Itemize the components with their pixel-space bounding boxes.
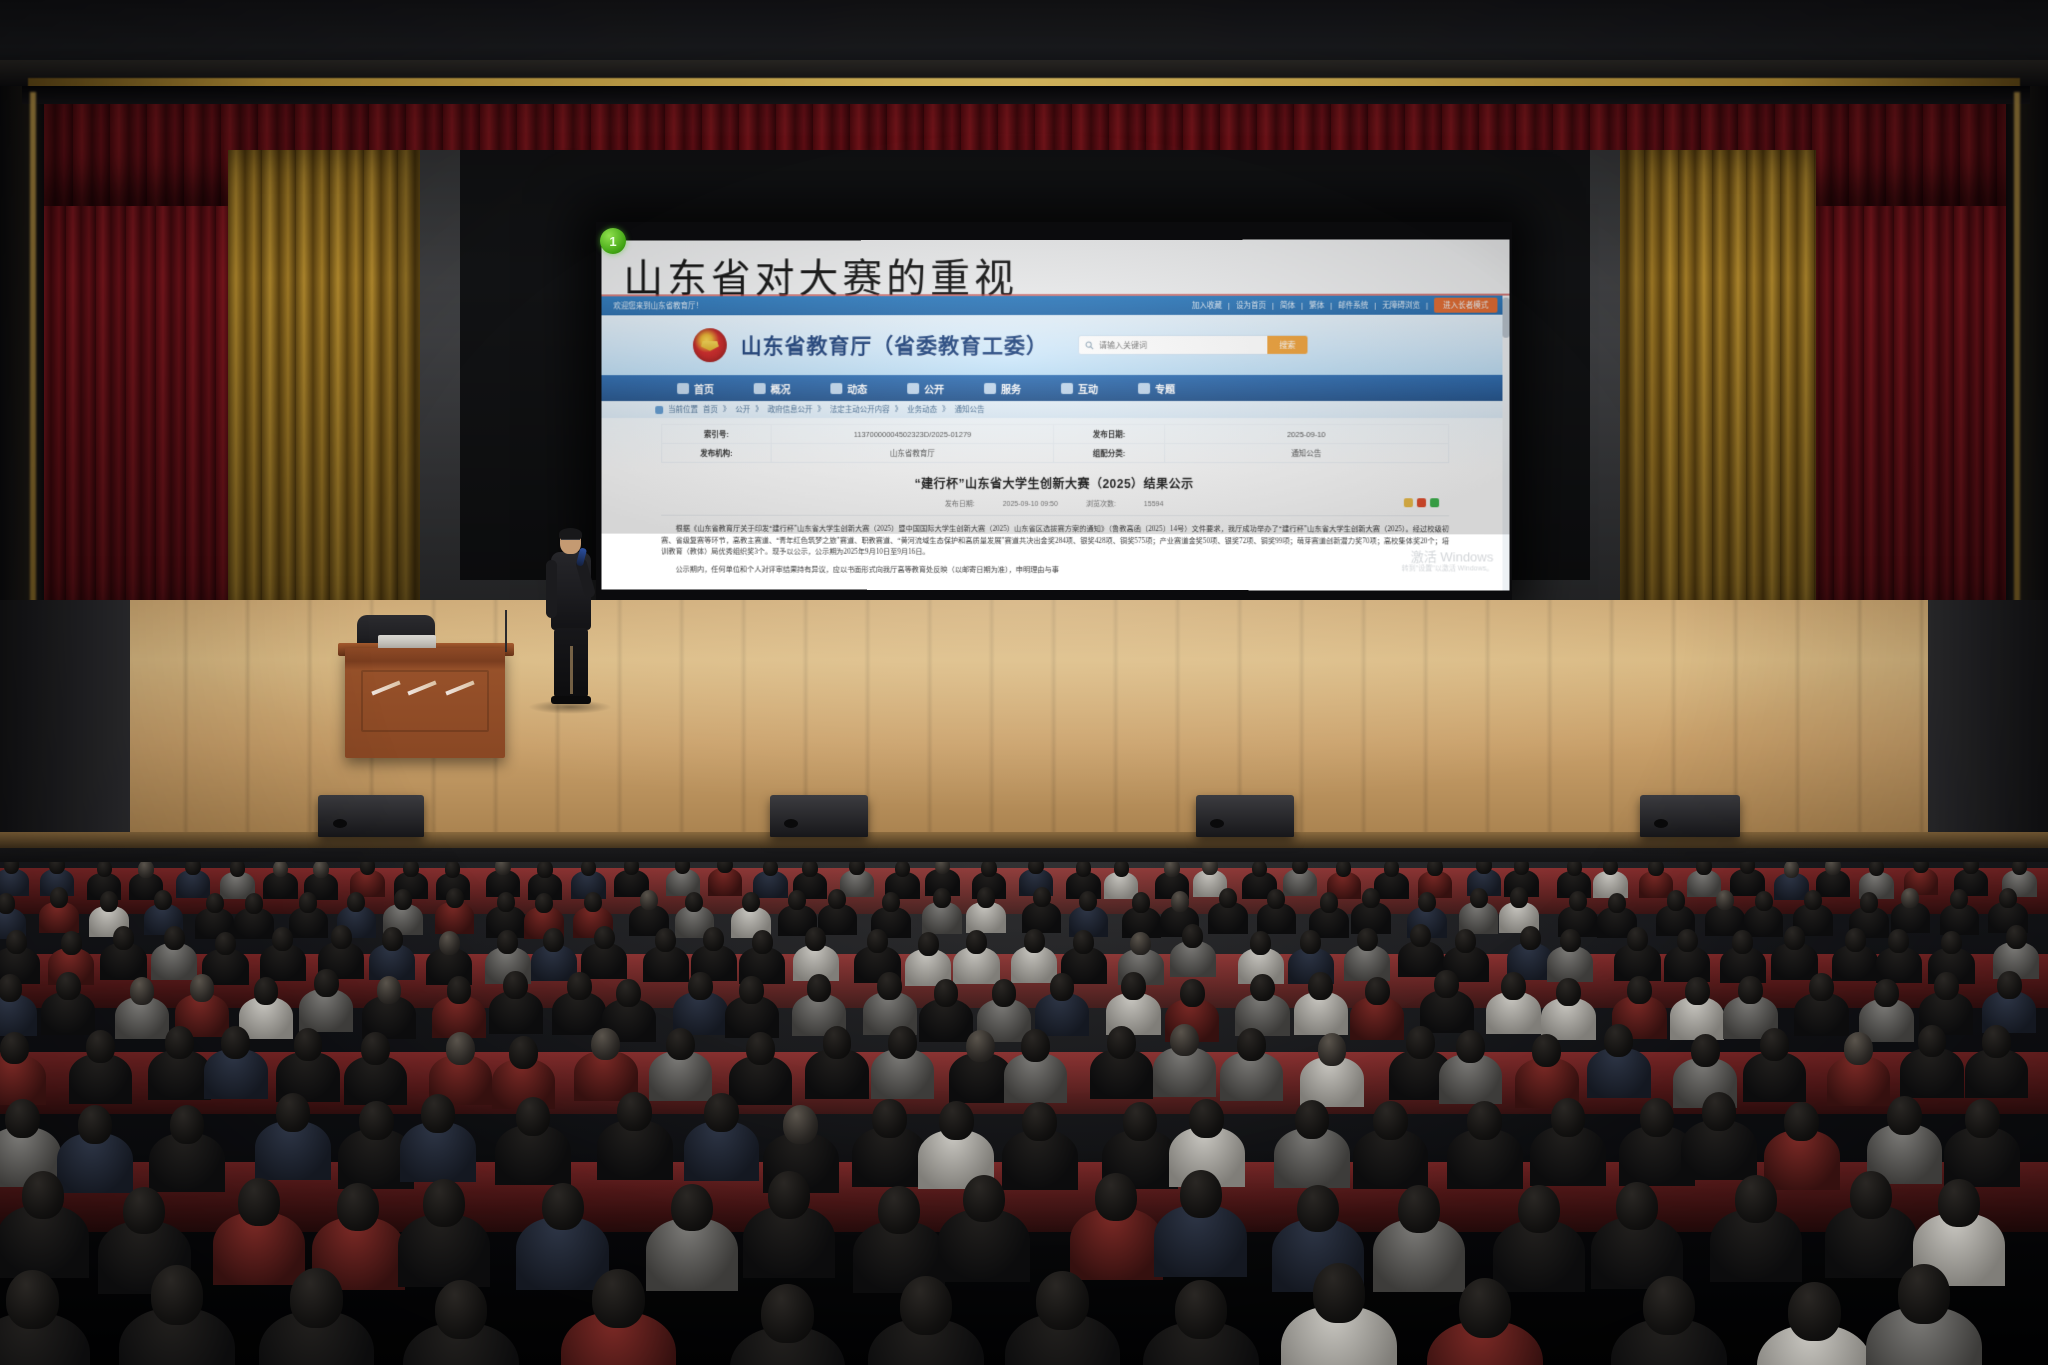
table-row: 索引号: 11370000004502323D/2025-01279 发布日期:… — [662, 424, 1449, 443]
audience-member-head — [877, 972, 902, 1000]
audience-member-head — [423, 1179, 465, 1227]
audience-member-head — [1121, 972, 1146, 1000]
audience-member-head — [1300, 930, 1321, 954]
separator: | — [1374, 301, 1376, 310]
audience-member-head — [215, 932, 236, 956]
nav-label: 公开 — [924, 381, 944, 396]
proscenium-left — [0, 86, 44, 656]
audience-member-head — [1520, 926, 1541, 950]
audience-member-head — [535, 893, 553, 913]
article-title: “建行杯”山东省大学生创新大赛（2025）结果公示 — [661, 475, 1449, 492]
audience-member-head — [1384, 862, 1400, 877]
audience-member-head — [347, 892, 365, 912]
link-add-favorite[interactable]: 加入收藏 — [1192, 300, 1222, 311]
audience-member-head — [337, 1183, 379, 1231]
audience-member-head — [543, 928, 564, 952]
audience-member-head — [1677, 929, 1698, 953]
meta-key-category: 组配分类: — [1054, 444, 1164, 463]
audience-member-head — [963, 1175, 1005, 1223]
audience-member-head — [1033, 887, 1051, 907]
search-icon — [1079, 340, 1099, 349]
audience-member-head — [206, 893, 224, 913]
audience-member-head — [1171, 891, 1189, 911]
audience-member-head — [50, 887, 68, 907]
audience-member-head — [1702, 1092, 1737, 1131]
microphone-stand — [505, 610, 507, 652]
separator: | — [1228, 301, 1230, 310]
stage-monitor-speaker — [770, 795, 868, 837]
audience-member-head — [1107, 1026, 1136, 1059]
audience-member-head — [1738, 976, 1763, 1004]
audience-member-head — [1180, 979, 1205, 1007]
audience-member-head — [882, 892, 900, 912]
audience-member-head — [1050, 973, 1075, 1001]
audience-member-head — [78, 1105, 113, 1144]
glasses-icon — [561, 539, 580, 542]
audience-member-head — [624, 862, 640, 875]
audience-member-head — [0, 974, 22, 1002]
site-header: 山东省教育厅（省委教育工委） 搜索 — [602, 315, 1510, 375]
meta-value-category: 通知公告 — [1164, 444, 1448, 463]
audience-member-head — [1648, 862, 1664, 876]
audience-member-head — [5, 1099, 40, 1138]
stage-curtain-left-gold — [228, 150, 428, 620]
site-utility-links[interactable]: 加入收藏 | 设为首页 | 简体 | 繁体 | 邮件系统 | 无障碍浏览 | 进… — [1192, 298, 1498, 313]
audience-member-head — [685, 892, 703, 912]
proscenium-right — [2006, 86, 2048, 656]
audience-member-head — [1250, 974, 1275, 1002]
audience-member-head — [1514, 862, 1530, 875]
audience-member-head — [1318, 1033, 1347, 1066]
audience-member-head — [361, 1032, 390, 1065]
audience-member-head — [290, 1268, 343, 1328]
stage-floor — [0, 600, 2048, 838]
site-search-box[interactable]: 搜索 — [1078, 335, 1308, 355]
audience-member-head — [783, 1105, 818, 1144]
audience-member-head — [1696, 862, 1712, 875]
separator: | — [1426, 301, 1428, 310]
audience-member-head — [445, 862, 461, 878]
audience-member-head — [294, 1028, 323, 1061]
audience-member-head — [123, 1187, 165, 1235]
audience-member-head — [1180, 1170, 1222, 1218]
audience-member-head — [802, 862, 818, 877]
audience-member-head — [1510, 887, 1528, 907]
audience-member-head — [503, 971, 528, 999]
audience-member-head — [1470, 888, 1488, 908]
breadcrumb-item-disclosure[interactable]: 公开 — [735, 404, 750, 415]
audience-member-head — [1313, 1263, 1366, 1323]
site-welcome-text: 欢迎您来到山东省教育厅！ — [613, 300, 702, 311]
audience-member-head — [617, 1092, 652, 1131]
audience-member-head — [1643, 1276, 1696, 1336]
topic-icon — [1138, 382, 1150, 393]
audience-member-head — [403, 862, 419, 877]
nav-item-overview[interactable]: 概况 — [734, 381, 811, 396]
audience-member-head — [97, 862, 113, 877]
audience-member-head — [1887, 1096, 1922, 1135]
audience-member-head — [100, 891, 118, 911]
presenter-leg-gap — [570, 646, 573, 694]
article-paragraph: 公示期内，任何单位和个人对评审结果持有异议，应以书面形式向我厅高等教育处反映（以… — [661, 565, 1449, 578]
audience-member-head — [435, 1280, 488, 1340]
audience-member-head — [245, 893, 263, 913]
breadcrumb-item-statutory[interactable]: 法定主动公开内容 — [830, 404, 890, 415]
audience-member-head — [0, 893, 15, 913]
views-value: 15594 — [1144, 501, 1163, 508]
audience-member-head — [872, 1099, 907, 1138]
site-topbar: 欢迎您来到山东省教育厅！ 加入收藏 | 设为首页 | 简体 | 繁体 | 邮件系… — [602, 296, 1510, 316]
breadcrumb: 当前位置 首页 》 公开 》 政府信息公开 》 法定主动公开内容 》 业务动态 … — [602, 401, 1510, 418]
audience-member-head — [1950, 889, 1968, 909]
audience-member-head — [1132, 892, 1150, 912]
audience-member-head — [1434, 970, 1459, 998]
audience-member-head — [1604, 1024, 1633, 1057]
audience-member-head — [314, 969, 339, 997]
audience-member-head — [164, 926, 185, 950]
location-icon — [655, 406, 663, 414]
audience-member-head — [1036, 1271, 1089, 1331]
site-content-area: 索引号: 11370000004502323D/2025-01279 发布日期:… — [602, 418, 1510, 591]
audience-member-head — [752, 930, 773, 954]
audience-member-head — [1373, 1101, 1408, 1140]
audience-member-head — [1608, 893, 1626, 913]
stage-monitor-speaker — [1640, 795, 1740, 837]
audience-member-head — [86, 1030, 115, 1063]
page-scrollbar[interactable] — [1502, 296, 1509, 591]
projection-screen: 山东省对大赛的重视 欢迎您来到山东省教育厅！ 加入收藏 | 设为首页 | 简体 … — [602, 239, 1510, 590]
audience-member-head — [788, 890, 806, 910]
link-accessibility[interactable]: 无障碍浏览 — [1382, 300, 1420, 311]
audience-member-head — [61, 931, 82, 955]
auditorium-photo: 1 山东省对大赛的重视 欢迎您来到山东省教育厅！ 加入收藏 | 设为首页 | 简… — [0, 0, 2048, 1365]
audience-member-head — [1640, 1098, 1675, 1137]
embedded-website-screenshot: 欢迎您来到山东省教育厅！ 加入收藏 | 设为首页 | 简体 | 繁体 | 邮件系… — [602, 296, 1510, 591]
audience-member-head — [1123, 1102, 1158, 1141]
breadcrumb-sep: 》 — [895, 404, 902, 415]
audience-member-head — [1784, 926, 1805, 950]
audience-member-head — [1456, 1030, 1485, 1063]
meta-value-agency: 山东省教育厅 — [771, 443, 1054, 462]
nav-item-disclosure[interactable]: 公开 — [887, 381, 964, 396]
audience-member-head — [1024, 929, 1045, 953]
audience-member-head — [1175, 1280, 1228, 1340]
audience-member-head — [567, 972, 592, 1000]
audience-member-head — [1667, 890, 1685, 910]
audience-member-head — [966, 930, 987, 954]
audience-member-head — [1732, 930, 1753, 954]
home-icon — [677, 383, 689, 394]
audience-member-head — [154, 890, 172, 910]
audience-member-head — [1898, 1264, 1951, 1324]
audience-member-head — [516, 1097, 551, 1136]
news-icon — [830, 383, 842, 394]
audience-member-head — [151, 1265, 204, 1325]
audience-member-head — [1965, 1099, 2000, 1138]
share-icon-group[interactable] — [1404, 498, 1439, 507]
proscenium-left-light — [30, 92, 36, 637]
publish-date-label: 发布日期: — [945, 499, 975, 509]
audience-member-head — [761, 1284, 814, 1344]
audience-member-head — [900, 1276, 953, 1336]
audience-member-head — [313, 862, 329, 878]
audience-member-head — [421, 1094, 456, 1133]
info-icon — [754, 383, 766, 394]
audience-member-head — [1860, 892, 1878, 912]
audience-member-head — [56, 972, 81, 1000]
audience-member-head — [537, 862, 553, 878]
audience-member-head — [1918, 1025, 1947, 1058]
audience-member-head — [1616, 1182, 1658, 1230]
audience-member-head — [359, 1101, 394, 1140]
audience-member-head — [1114, 862, 1130, 877]
audience-member-head — [1825, 862, 1841, 875]
audience-member-head — [1308, 972, 1333, 1000]
audience-member-head — [1784, 1102, 1819, 1141]
audience-member-head — [888, 1026, 917, 1059]
audience-member-head — [1182, 924, 1203, 948]
audience-member-head — [1850, 1171, 1892, 1219]
audience-member-head — [509, 1036, 538, 1069]
audience-member-head — [1336, 862, 1352, 877]
audience-member-head — [1685, 977, 1710, 1005]
audience-member-head — [592, 1269, 645, 1329]
audience-member-head — [1079, 891, 1097, 911]
search-button[interactable]: 搜索 — [1267, 336, 1307, 354]
audience-member-head — [1076, 862, 1092, 877]
audience-member-head — [666, 1028, 695, 1061]
audience-member-head — [439, 931, 460, 955]
audience-member-head — [742, 892, 760, 912]
slide-number-badge: 1 — [600, 228, 626, 254]
nav-item-service[interactable]: 服务 — [964, 381, 1041, 396]
audience-member-head — [1627, 927, 1648, 951]
audience-member-head — [1073, 930, 1094, 954]
audience-member-head — [6, 1270, 59, 1330]
audience-member-head — [1467, 1101, 1502, 1140]
breadcrumb-sep: 》 — [942, 404, 949, 415]
meta-value-publish-date: 2025-09-10 — [1164, 425, 1448, 444]
views-label: 浏览次数: — [1086, 499, 1116, 509]
audience-member-head — [254, 977, 279, 1005]
audience-member-head — [1551, 1098, 1586, 1137]
audience-member-head — [2006, 925, 2027, 949]
article-paragraph: 根据《山东省教育厅关于印发“建行杯”山东省大学生创新大赛（2025）暨中国国际大… — [661, 524, 1449, 560]
audience-member-head — [591, 1028, 620, 1061]
chat-icon — [1061, 382, 1073, 393]
audience-member-head — [977, 887, 995, 907]
nav-label: 首页 — [694, 381, 714, 396]
audience-member-head — [688, 972, 713, 1000]
nav-item-news[interactable]: 动态 — [810, 381, 887, 396]
podium-panel — [361, 670, 489, 732]
audience-member-head — [1844, 1032, 1873, 1065]
audience-member-head — [165, 1026, 194, 1059]
audience-member-head — [1755, 891, 1773, 911]
audience-member-head — [1716, 890, 1734, 910]
audience-member-head — [1427, 862, 1443, 876]
audience-member-head — [1627, 976, 1652, 1004]
link-traditional[interactable]: 繁体 — [1309, 300, 1324, 311]
audience-member-head — [1219, 888, 1237, 908]
audience-member-head — [1567, 862, 1583, 876]
audience-member-head — [1267, 889, 1285, 909]
meta-key-index: 索引号: — [662, 424, 772, 443]
audience-member-head — [1874, 979, 1899, 1007]
audience-member-head — [221, 1026, 250, 1059]
audience-member-head — [739, 976, 764, 1004]
audience-member-head — [394, 889, 412, 909]
nav-item-interaction[interactable]: 互动 — [1041, 380, 1118, 395]
audience-member-head — [4, 862, 20, 874]
audience-member-head — [1202, 862, 1218, 875]
audience-member-head — [807, 974, 832, 1002]
audience-member-head — [1237, 1028, 1266, 1061]
audience-member-head — [190, 974, 215, 1002]
audience-member-head — [1997, 971, 2022, 999]
audience-member-head — [1999, 888, 2017, 908]
audience-member-head — [382, 927, 403, 951]
elder-mode-button[interactable]: 进入长者模式 — [1434, 298, 1497, 313]
article-subline: 发布日期: 2025-09-10 09:50 浏览次数: 15594 — [661, 499, 1449, 517]
link-set-homepage[interactable]: 设为首页 — [1236, 300, 1266, 311]
audience-member-head — [1295, 1100, 1330, 1139]
audience-member-head — [1982, 1025, 2011, 1058]
audience-member-head — [331, 925, 352, 949]
audience-member-head — [1410, 924, 1431, 948]
link-simplified[interactable]: 简体 — [1280, 300, 1295, 311]
audience-member-head — [276, 1093, 311, 1132]
audience-member-head — [1569, 891, 1587, 911]
audience-member-head — [446, 888, 464, 908]
audience-member-head — [867, 929, 888, 953]
breadcrumb-item-business[interactable]: 业务动态 — [907, 404, 937, 415]
audience-member-head — [1845, 928, 1866, 952]
audience-member-head — [1735, 1175, 1777, 1223]
meta-key-agency: 发布机构: — [662, 443, 772, 462]
audience-member-head — [703, 927, 724, 951]
audience-member-head — [1455, 929, 1476, 953]
site-main-nav[interactable]: 首页 概况 动态 公开 服务 — [602, 375, 1510, 401]
audience-member-head — [1518, 1185, 1560, 1233]
separator: | — [1330, 301, 1332, 310]
audience-member-head — [299, 892, 317, 912]
breadcrumb-item-notice[interactable]: 通知公告 — [955, 404, 985, 415]
audience-member-head — [616, 979, 641, 1007]
audience-member-head — [939, 1101, 974, 1140]
audience-member-head — [1459, 1278, 1512, 1338]
audience-member-head — [704, 1093, 739, 1132]
nav-item-topics[interactable]: 专题 — [1118, 380, 1195, 395]
audience-member-head — [1022, 1102, 1057, 1141]
audience-member-head — [1357, 928, 1378, 952]
meta-key-publish-date: 发布日期: — [1054, 425, 1164, 444]
audience-member-head — [1164, 862, 1180, 877]
audience-member-head — [1297, 1185, 1339, 1233]
audience-member-head — [1365, 977, 1390, 1005]
nav-label: 概况 — [771, 381, 791, 396]
nav-label: 服务 — [1001, 381, 1021, 396]
stage-monitor-speaker — [1196, 795, 1294, 837]
site-title: 山东省教育厅（省委教育工委） — [741, 330, 1048, 360]
breadcrumb-item-gov-info[interactable]: 政府信息公开 — [768, 404, 813, 415]
audience-member-head — [1476, 862, 1492, 874]
audience-member-head — [1560, 929, 1581, 953]
search-input[interactable] — [1099, 340, 1267, 349]
audience-member-head — [497, 930, 518, 954]
audience-member-head — [113, 926, 134, 950]
audience-member-head — [0, 1032, 29, 1065]
audience-member-head — [1189, 1099, 1224, 1138]
audience-member-head — [446, 1032, 475, 1065]
audience-member-head — [542, 1183, 584, 1231]
audience-member-head — [130, 977, 155, 1005]
scrollbar-thumb[interactable] — [1502, 298, 1509, 338]
meta-value-index: 11370000004502323D/2025-01279 — [771, 424, 1054, 443]
audience-member-head — [1809, 973, 1834, 1001]
book-icon — [907, 383, 919, 394]
podium-desk — [345, 648, 505, 758]
audience-member-head — [1021, 1029, 1050, 1062]
audience-member-head — [49, 862, 65, 874]
audience-seating: KELME Signature — [0, 862, 2048, 1365]
separator: | — [1301, 301, 1303, 310]
audience-member-head — [1130, 932, 1151, 956]
nav-item-home[interactable]: 首页 — [657, 381, 734, 396]
proscenium-top — [22, 86, 2030, 104]
audience-member-head — [918, 932, 939, 956]
audience-member-head — [823, 1026, 852, 1059]
audience-member-head — [1532, 1034, 1561, 1067]
separator: | — [1272, 301, 1274, 310]
audience-member-head — [230, 862, 246, 877]
breadcrumb-prefix: 当前位置 — [668, 404, 698, 415]
audience-member-head — [655, 928, 676, 952]
audience-member-head — [966, 1030, 995, 1063]
nav-label: 动态 — [847, 381, 867, 396]
presenter-arm-left — [546, 560, 557, 618]
audience-member-head — [768, 1171, 810, 1219]
audience-member-head — [1784, 862, 1800, 878]
stage-curtain-right-gold — [1610, 150, 1816, 620]
link-mail-system[interactable]: 邮件系统 — [1338, 300, 1368, 311]
article-body: 根据《山东省教育厅关于印发“建行杯”山东省大学生创新大赛（2025）暨中国国际大… — [661, 524, 1449, 577]
audience-member-head — [1406, 1026, 1435, 1059]
audience-member-head — [1556, 978, 1581, 1006]
audience-member-head — [1398, 1185, 1440, 1233]
audience-member-head — [1362, 888, 1380, 908]
table-row: 发布机构: 山东省教育厅 组配分类: 通知公告 — [662, 443, 1449, 462]
audience-member-head — [138, 862, 154, 878]
audience-member-head — [1788, 1282, 1841, 1342]
share-qq-icon[interactable] — [1430, 498, 1439, 507]
share-weibo-icon[interactable] — [1417, 498, 1426, 507]
audience-member-head — [933, 888, 951, 908]
audience-member-head — [594, 926, 615, 950]
audience-member-head — [1501, 972, 1526, 1000]
audience-member-head — [1095, 1173, 1137, 1221]
share-wechat-icon[interactable] — [1404, 498, 1413, 507]
audience-member-head — [238, 1178, 280, 1226]
national-emblem-icon — [693, 328, 727, 362]
audience-member-head — [1888, 929, 1909, 953]
audience-member-head — [849, 862, 865, 875]
nav-label: 互动 — [1078, 380, 1098, 395]
document-meta-table: 索引号: 11370000004502323D/2025-01279 发布日期:… — [661, 424, 1449, 463]
audience-member-head — [992, 979, 1017, 1007]
breadcrumb-item-home[interactable]: 首页 — [703, 404, 718, 415]
presenter-shoes — [551, 696, 591, 704]
